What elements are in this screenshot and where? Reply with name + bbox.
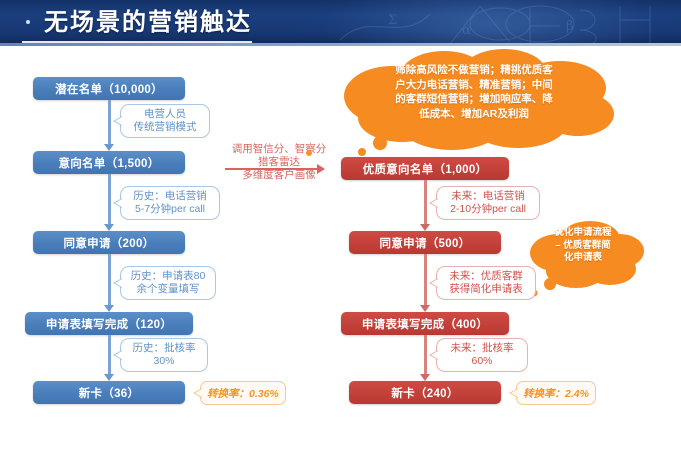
page-title: 无场景的营销触达	[44, 6, 252, 40]
right-callout-0-notch-inner	[431, 199, 438, 207]
svg-text:β: β	[566, 19, 574, 34]
right-callout-1-text: 未来：优质客群 获得简化申请表	[449, 270, 523, 296]
left-connector-arrow-1	[104, 224, 114, 231]
slide-header: α β Σ 无场景的营销触达	[0, 0, 681, 46]
header-formula-decoration: α β Σ	[330, 0, 681, 46]
left-flow-box-2[interactable]: 同意申请（200）	[33, 231, 185, 254]
right-callout-0: 未来：电话营销 2-10分钟per call	[436, 186, 540, 220]
cloud-callout-application: 优化申请流程 – 优质客群简 化申请表	[524, 215, 646, 301]
right-callout-2-notch-inner	[431, 351, 438, 359]
right-flow-box-3[interactable]: 新卡（240）	[349, 381, 501, 404]
cloud-callout-strategy-text: 筛除高风险不做营销；精挑优质客 户大力电话营销、精准营销；中间 的客群短信营销；…	[358, 63, 590, 121]
left-connector-line-0	[108, 100, 111, 145]
left-flow-box-4[interactable]: 新卡（36）	[33, 381, 185, 404]
left-callout-1-notch-inner	[115, 199, 122, 207]
left-rate-notch-inner	[195, 389, 202, 397]
left-callout-2-notch-inner	[115, 279, 122, 287]
right-callout-0-text: 未来：电话营销 2-10分钟per call	[450, 190, 526, 216]
left-callout-3-notch-inner	[115, 351, 122, 359]
svg-text:Σ: Σ	[388, 13, 397, 28]
left-connector-arrow-0	[104, 144, 114, 151]
right-connector-arrow-1	[420, 305, 430, 312]
right-conversion-rate-text: 转换率：2.4%	[523, 386, 589, 401]
right-connector-arrow-0	[420, 224, 430, 231]
bullet-dot-icon	[26, 20, 30, 24]
left-callout-3-text: 历史：批核率 30%	[133, 342, 196, 368]
left-flow-box-1[interactable]: 意向名单（1,500）	[33, 151, 185, 174]
middle-transition-label: 调用智信分、智察分 猎客雷达 多维度客户画像	[215, 143, 343, 182]
right-callout-2-text: 未来：批核率 60%	[451, 342, 514, 368]
left-callout-2-text: 历史：申请表80 余个变量填写	[131, 270, 206, 296]
left-callout-0-notch-inner	[115, 117, 122, 125]
right-rate-notch-inner	[511, 389, 518, 397]
left-connector-line-3	[108, 335, 111, 375]
transition-arrow-head	[317, 164, 325, 174]
left-flow-box-3[interactable]: 申请表填写完成（120）	[25, 312, 193, 335]
left-flow-box-0[interactable]: 潜在名单（10,000）	[33, 77, 185, 100]
left-connector-line-2	[108, 254, 111, 306]
left-callout-3: 历史：批核率 30%	[120, 338, 208, 372]
right-callout-1-notch-inner	[431, 279, 438, 287]
right-flow-box-1[interactable]: 同意申请（500）	[349, 231, 501, 254]
right-flow-box-0[interactable]: 优质意向名单（1,000）	[341, 157, 509, 180]
left-connector-arrow-3	[104, 374, 114, 381]
left-callout-0-text: 电营人员 传统营销模式	[134, 108, 197, 134]
transition-arrow-line	[225, 168, 317, 170]
right-conversion-rate-badge: 转换率：2.4%	[516, 381, 596, 405]
left-callout-1: 历史：电话营销 5-7分钟per call	[120, 186, 220, 220]
svg-text:α: α	[462, 23, 471, 38]
right-connector-line-1	[424, 254, 427, 306]
right-connector-line-2	[424, 335, 427, 375]
slide-canvas: α β Σ 无场景的营销触达 筛	[0, 0, 681, 449]
right-connector-line-0	[424, 180, 427, 225]
transition-accent-dot-icon	[306, 150, 312, 156]
left-connector-arrow-2	[104, 305, 114, 312]
left-callout-2: 历史：申请表80 余个变量填写	[120, 266, 216, 300]
left-conversion-rate-badge: 转换率：0.36%	[200, 381, 286, 405]
left-conversion-rate-text: 转换率：0.36%	[207, 386, 279, 401]
right-connector-arrow-2	[420, 374, 430, 381]
header-bottom-bar	[0, 43, 681, 46]
left-connector-line-1	[108, 174, 111, 225]
right-callout-1: 未来：优质客群 获得简化申请表	[436, 266, 536, 300]
right-flow-box-2[interactable]: 申请表填写完成（400）	[341, 312, 509, 335]
cloud-callout-strategy: 筛除高风险不做营销；精挑优质客 户大力电话营销、精准营销；中间 的客群短信营销；…	[332, 48, 622, 156]
right-callout-2: 未来：批核率 60%	[436, 338, 528, 372]
left-callout-1-text: 历史：电话营销 5-7分钟per call	[133, 190, 207, 216]
cloud-callout-application-text: 优化申请流程 – 优质客群简 化申请表	[538, 227, 628, 265]
left-callout-0: 电营人员 传统营销模式	[120, 104, 210, 138]
